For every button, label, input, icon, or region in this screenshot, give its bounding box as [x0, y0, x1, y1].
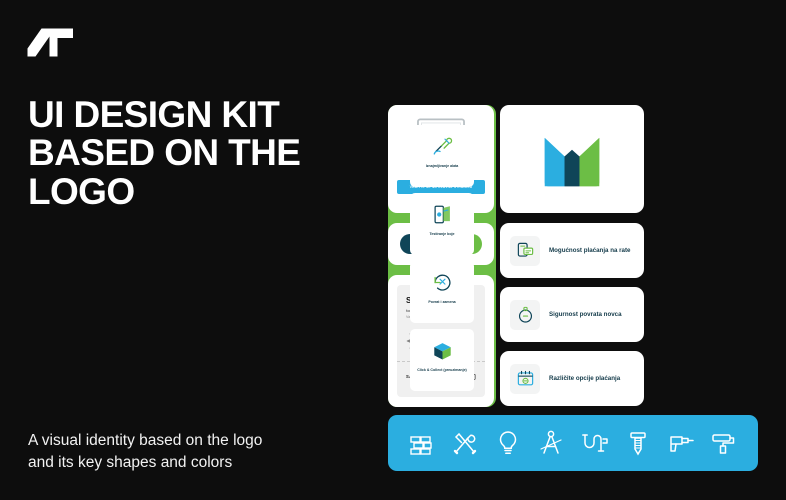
brand-logo-card — [500, 105, 644, 213]
return-exchange-icon — [410, 265, 474, 299]
paint-roller-icon[interactable] — [710, 429, 738, 457]
page-title: UI DESIGN KIT BASED ON THE LOGO — [28, 96, 358, 211]
service-tile-tool-rental[interactable]: Iznajmljivanje alata — [410, 125, 474, 187]
crossed-tools-icon[interactable] — [451, 429, 479, 457]
headline-line-2: BASED ON THE — [28, 132, 300, 173]
headline-line-3: LOGO — [28, 171, 135, 212]
service-tile-click-collect[interactable]: Click & Collect (preuzimanje) — [410, 329, 474, 391]
tool-icon-bar — [388, 415, 758, 471]
feature-label: Sigurnost povrata novca — [549, 310, 622, 320]
feature-card-payment-options[interactable]: Različite opcije plaćanja — [500, 351, 644, 406]
feature-label: Mogućnost plaćanja na rate — [549, 246, 631, 256]
feature-card-money-back[interactable]: Sigurnost povrata novca — [500, 287, 644, 342]
headline-line-1: UI DESIGN KIT — [28, 94, 279, 135]
service-label: Click & Collect (preuzimanje) — [410, 368, 474, 373]
bricks-icon[interactable] — [408, 429, 436, 457]
tool-rental-icon — [410, 129, 474, 163]
service-tile-return-exchange[interactable]: Povrat i zamena — [410, 261, 474, 323]
paint-color-test-icon — [410, 197, 474, 231]
money-back-shield-icon — [510, 300, 540, 330]
compass-divider-icon[interactable] — [537, 429, 565, 457]
service-tile-paint-test[interactable]: Testiranje boje — [410, 193, 474, 255]
design-kit-board: U pripremi VRATITE SE NA GLAVNU STRANICU… — [388, 105, 758, 407]
feature-label: Različite opcije plaćanja — [549, 374, 620, 384]
payment-options-card-icon — [510, 364, 540, 394]
screw-bolt-icon[interactable] — [624, 429, 652, 457]
page-subtitle: A visual identity based on the logo and … — [28, 430, 358, 475]
brand-monogram-logo — [26, 27, 74, 57]
power-drill-icon[interactable] — [667, 429, 695, 457]
subtitle-line-1: A visual identity based on the logo — [28, 430, 358, 452]
service-label: Iznajmljivanje alata — [410, 164, 474, 169]
click-and-collect-icon — [410, 333, 474, 367]
light-bulb-icon[interactable] — [494, 429, 522, 457]
feature-card-installments[interactable]: Mogućnost plaćanja na rate — [500, 223, 644, 278]
brand-logo-mark — [541, 128, 603, 190]
service-label: Testiranje boje — [410, 232, 474, 237]
service-label: Povrat i zamena — [410, 300, 474, 305]
installment-payment-icon — [510, 236, 540, 266]
subtitle-line-2: and its key shapes and colors — [28, 452, 358, 474]
pipe-plumbing-icon[interactable] — [581, 429, 609, 457]
